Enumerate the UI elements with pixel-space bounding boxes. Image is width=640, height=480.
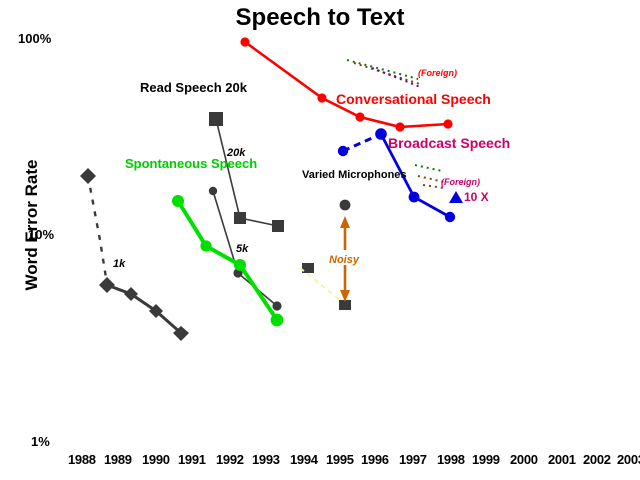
series-read-speech-1k xyxy=(80,168,189,341)
series-spontaneous-speech xyxy=(172,195,283,326)
annotation-broadcast-speech: Broadcast Speech xyxy=(388,136,480,151)
x-tick-1996: 1996 xyxy=(361,452,389,467)
annotation-read-speech: Read Speech 20k xyxy=(140,80,206,95)
annotation-varied-microphones: Varied Microphones xyxy=(302,168,388,183)
series-varied-microphones xyxy=(340,200,351,211)
annotation-spontaneous-speech: Spontaneous Speech xyxy=(125,156,213,171)
x-tick-1993: 1993 xyxy=(252,452,280,467)
series-conversational-speech xyxy=(240,37,452,131)
annotation-20k: 20k xyxy=(227,147,245,159)
x-tick-2002: 2002 xyxy=(583,452,611,467)
x-tick-1988: 1988 xyxy=(68,452,96,467)
annotation-conversational-speech: Conversational Speech xyxy=(336,92,448,107)
x-tick-2003: 2003 xyxy=(617,452,640,467)
legend-label-10x: 10 X xyxy=(464,190,489,204)
x-tick-1997: 1997 xyxy=(399,452,427,467)
annotation-5k: 5k xyxy=(236,243,248,255)
series-noisy xyxy=(302,263,351,310)
x-tick-1989: 1989 xyxy=(104,452,132,467)
x-tick-1991: 1991 xyxy=(178,452,206,467)
foreign-dotted-top xyxy=(347,60,420,87)
x-tick-1992: 1992 xyxy=(216,452,244,467)
x-tick-1999: 1999 xyxy=(472,452,500,467)
chart-canvas: Speech to Text Word Error Rate 100% 10% … xyxy=(0,0,640,480)
x-tick-2000: 2000 xyxy=(510,452,538,467)
x-tick-1995: 1995 xyxy=(326,452,354,467)
foreign-dotted-broadcast xyxy=(415,165,444,188)
annotation-foreign-conversational: (Foreign) xyxy=(418,68,457,78)
annotation-foreign-broadcast: (Foreign) xyxy=(441,177,480,187)
chart-plot-area xyxy=(0,0,640,480)
x-tick-1994: 1994 xyxy=(290,452,318,467)
x-tick-1998: 1998 xyxy=(437,452,465,467)
annotation-noisy: Noisy xyxy=(329,254,359,266)
x-tick-2001: 2001 xyxy=(548,452,576,467)
annotation-1k: 1k xyxy=(113,258,125,270)
legend-triangle-icon xyxy=(449,191,463,203)
x-tick-1990: 1990 xyxy=(142,452,170,467)
